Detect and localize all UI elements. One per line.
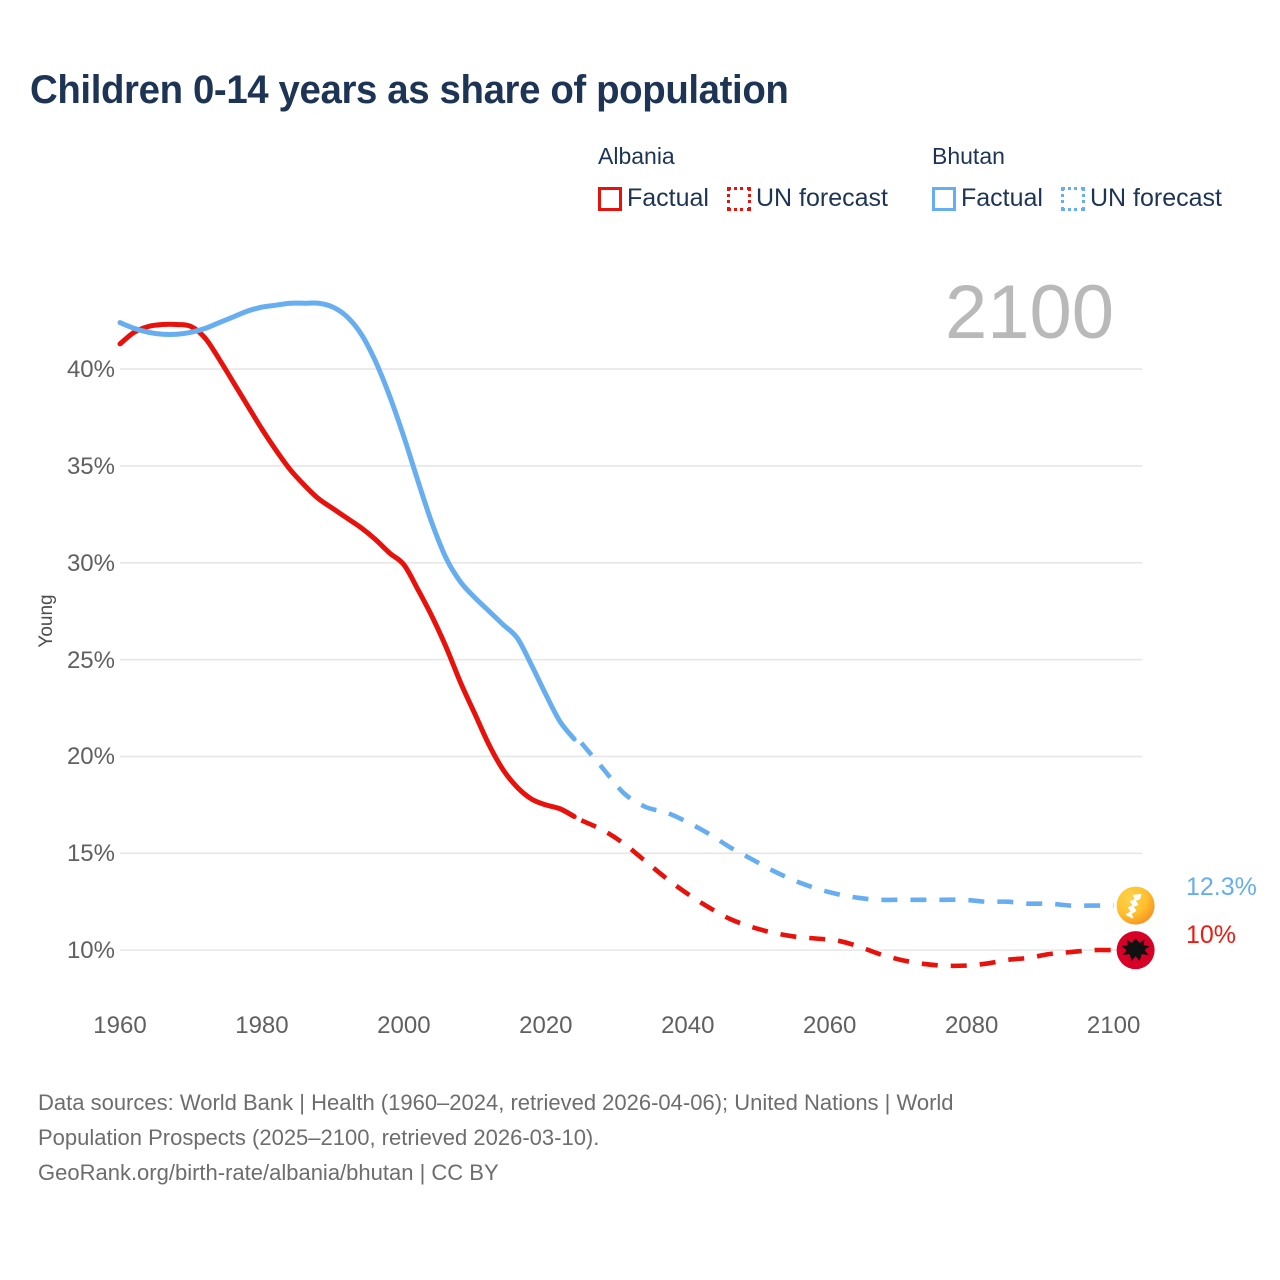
end-label-bhutan: 12.3%	[1186, 873, 1257, 902]
end-markers	[1117, 887, 1155, 970]
gridlines	[120, 369, 1142, 950]
footer-line-3[interactable]: GeoRank.org/birth-rate/albania/bhutan | …	[38, 1155, 1218, 1190]
y-tick-label: 10%	[45, 937, 115, 965]
end-label-albania: 10%	[1186, 921, 1236, 950]
series-line-bhutan-forecast	[581, 743, 1113, 906]
x-tick-label: 2080	[922, 1012, 1022, 1040]
bhutan-flag-roundel	[1117, 887, 1155, 925]
footer-line-2: Population Prospects (2025–2100, retriev…	[38, 1120, 1218, 1155]
y-tick-label: 30%	[45, 550, 115, 578]
chart-root: Children 0-14 years as share of populati…	[0, 0, 1280, 1280]
series-lines	[120, 303, 1114, 966]
footer-sources: Data sources: World Bank | Health (1960–…	[38, 1085, 1218, 1190]
series-line-albania-factual	[120, 324, 574, 816]
x-tick-label: 1980	[212, 1012, 312, 1040]
albania-flag-roundel	[1117, 931, 1155, 969]
x-tick-label: 2020	[496, 1012, 596, 1040]
x-tick-label: 1960	[70, 1012, 170, 1040]
x-tick-label: 2100	[1064, 1012, 1164, 1040]
series-line-albania-forecast	[581, 820, 1113, 966]
y-tick-label: 35%	[45, 453, 115, 481]
y-tick-label: 15%	[45, 840, 115, 868]
y-tick-label: 25%	[45, 647, 115, 675]
x-tick-label: 2060	[780, 1012, 880, 1040]
x-tick-label: 2040	[638, 1012, 738, 1040]
y-tick-label: 40%	[45, 356, 115, 384]
footer-line-1: Data sources: World Bank | Health (1960–…	[38, 1085, 1218, 1120]
y-tick-label: 20%	[45, 743, 115, 771]
x-tick-label: 2000	[354, 1012, 454, 1040]
